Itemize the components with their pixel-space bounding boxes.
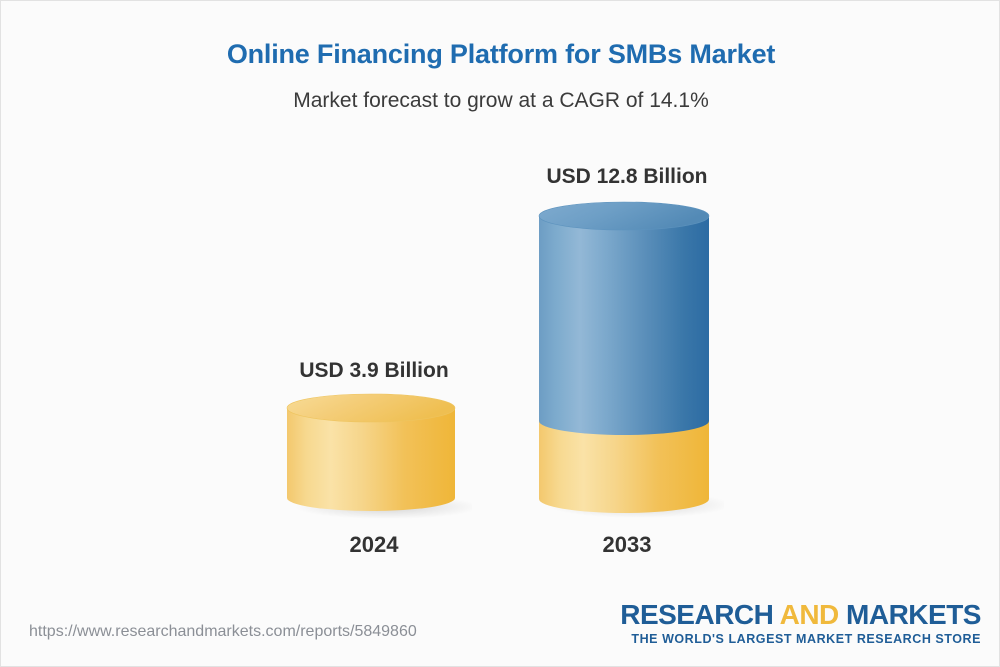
logo-word-markets: MARKETS [839,599,981,630]
axis-label-2024: 2024 [254,532,494,558]
chart-canvas: Online Financing Platform for SMBs Marke… [0,0,1000,667]
source-url[interactable]: https://www.researchandmarkets.com/repor… [29,623,417,641]
page-subtitle: Market forecast to grow at a CAGR of 14.… [1,89,1000,113]
logo-tagline: THE WORLD'S LARGEST MARKET RESEARCH STOR… [620,633,981,646]
bar-cylinder-2033 [534,199,724,519]
value-label-2033: USD 12.8 Billion [507,165,747,189]
axis-label-2033: 2033 [507,532,747,558]
bar-cylinder-2024 [282,391,472,521]
logo-word-research: RESEARCH [620,599,779,630]
brand-logo: RESEARCH AND MARKETS THE WORLD'S LARGEST… [620,601,981,646]
page-title: Online Financing Platform for SMBs Marke… [1,39,1000,70]
value-label-2024: USD 3.9 Billion [254,359,494,383]
logo-word-and: AND [780,599,839,630]
logo-wordmark: RESEARCH AND MARKETS [620,601,981,629]
